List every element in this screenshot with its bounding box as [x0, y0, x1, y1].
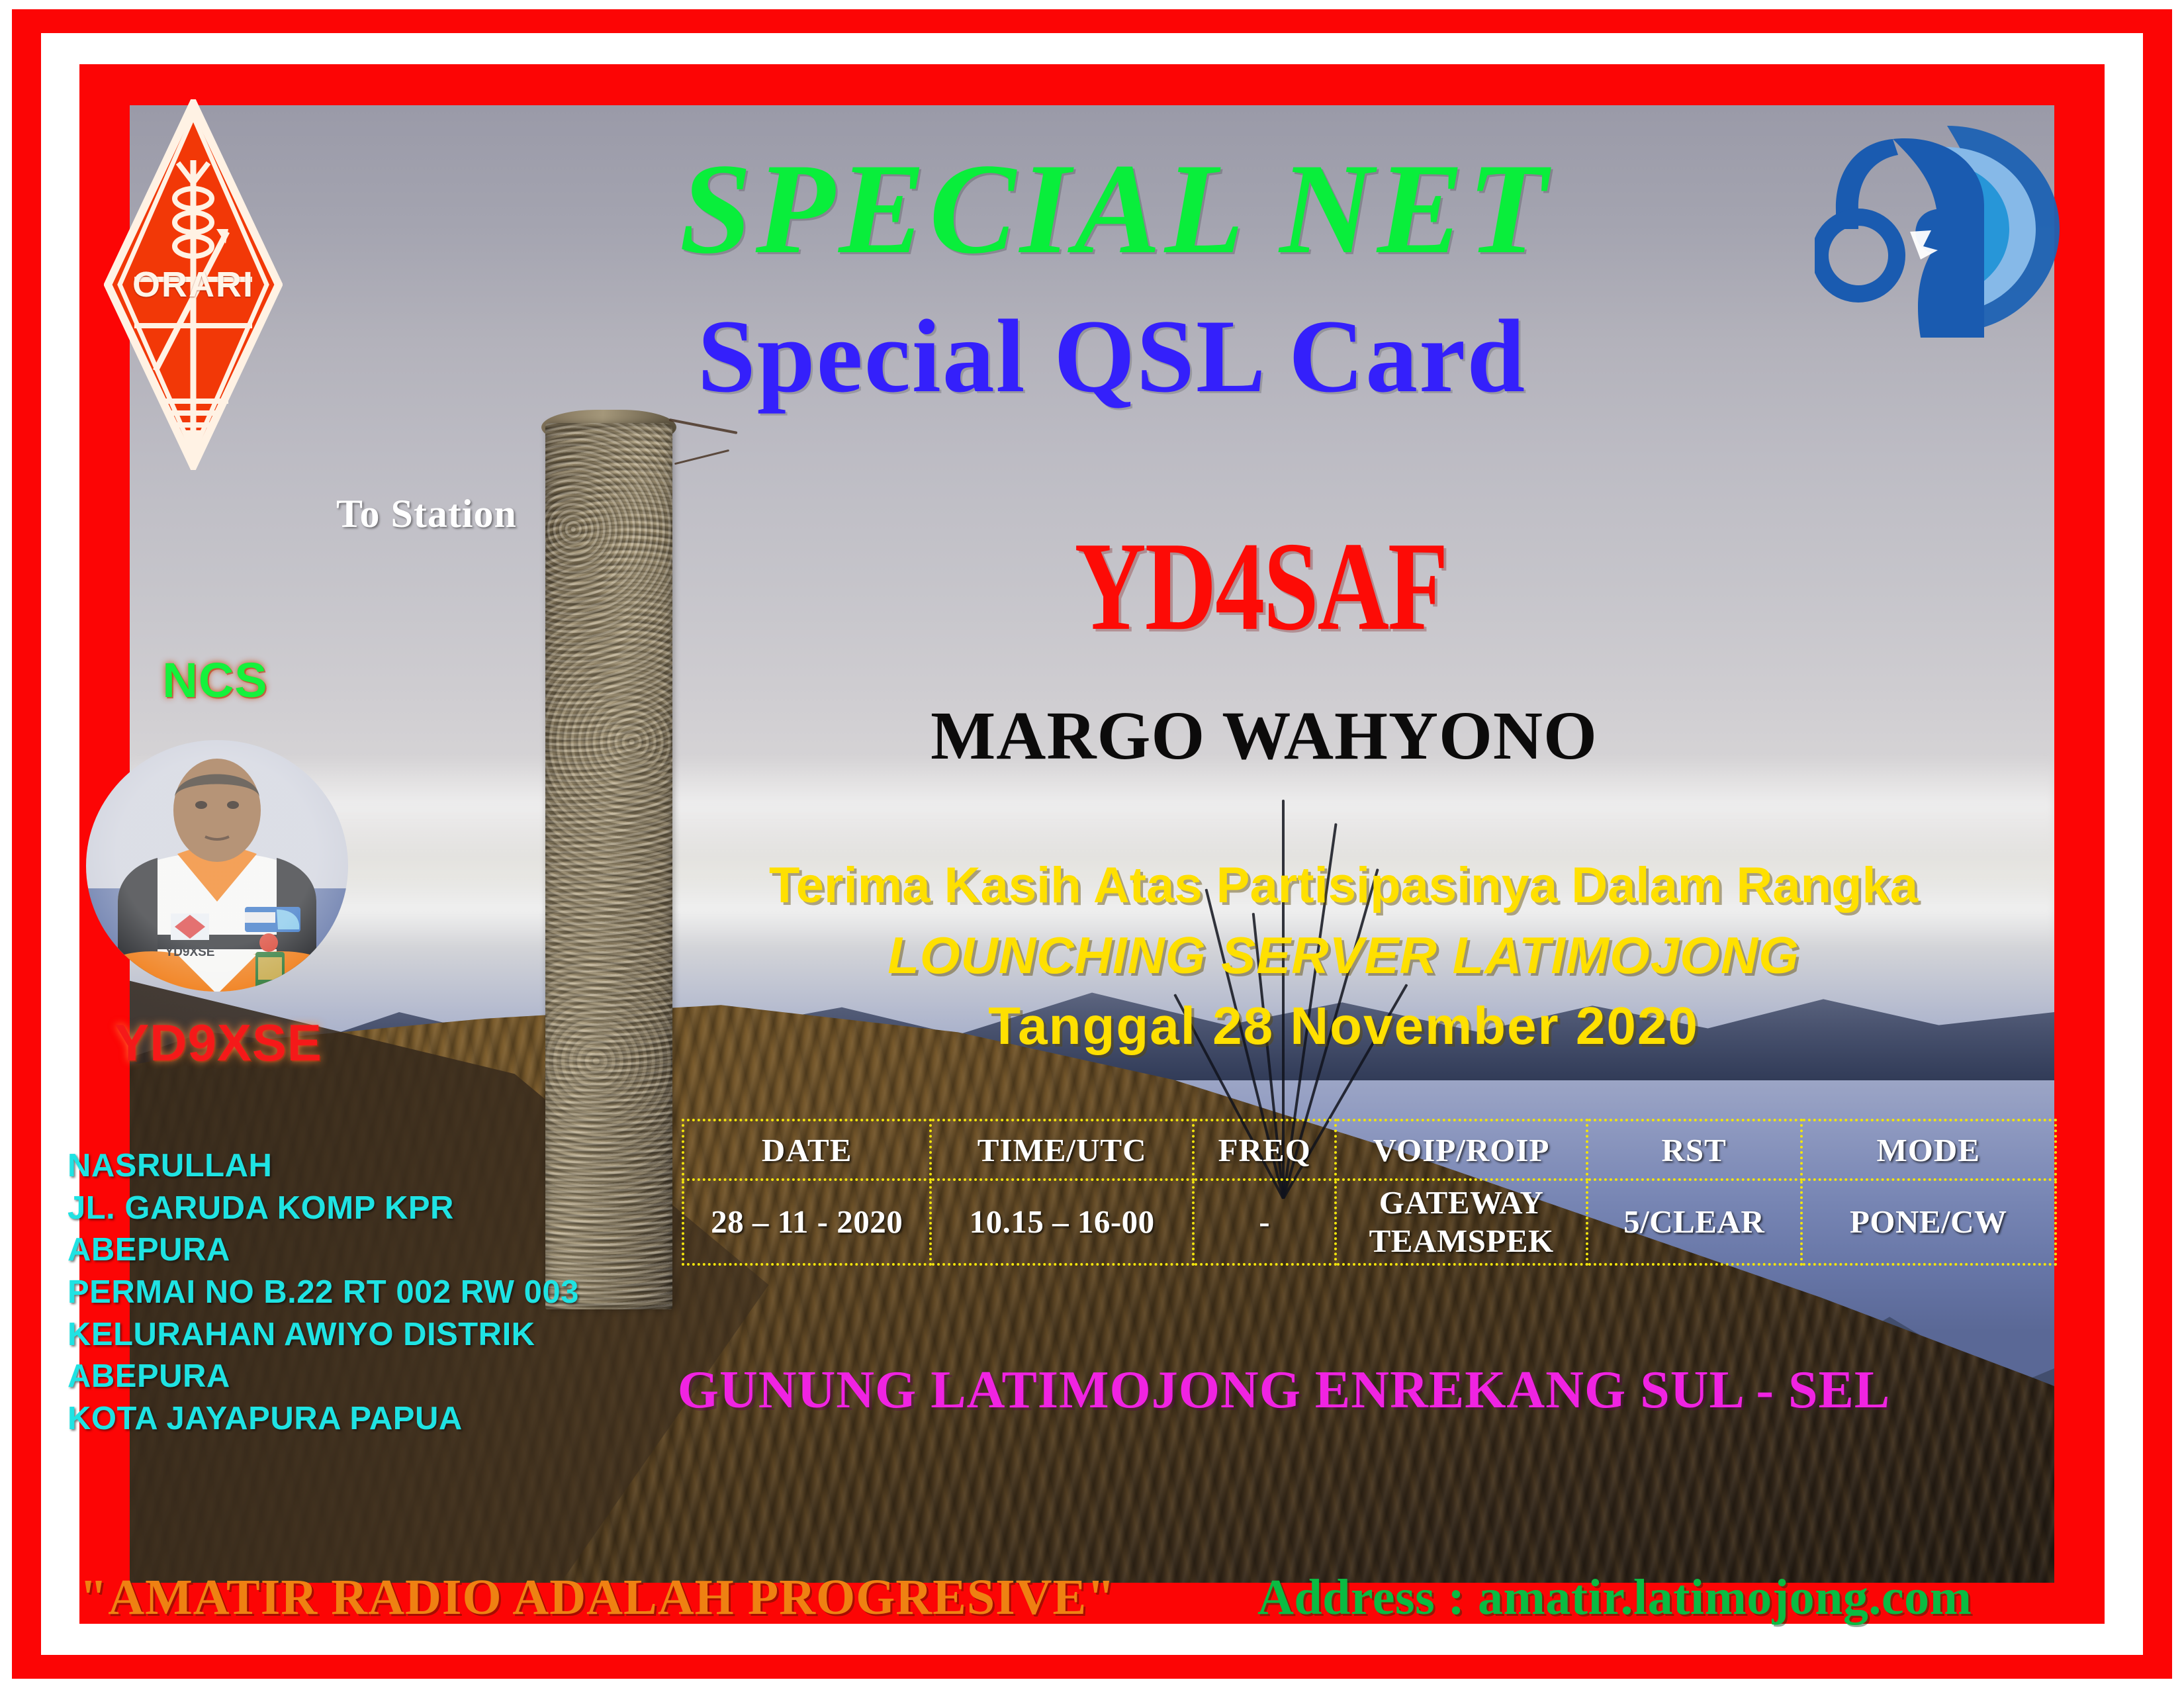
- footer-motto: "AMATIR RADIO ADALAH PROGRESIVE": [79, 1569, 1115, 1626]
- cell-rst: 5/CLEAR: [1587, 1180, 1801, 1264]
- address-line: JL. GARUDA KOMP KPR: [68, 1188, 650, 1230]
- address-line: PERMAI NO B.22 RT 002 RW 003: [68, 1272, 650, 1314]
- column-header-date: DATE: [683, 1120, 931, 1180]
- page-title-special-net: SPECIAL NET: [0, 144, 2184, 274]
- ncs-operator-photo: YD9XSE: [78, 736, 356, 994]
- footer-website-address: Address : amatir.latimojong.com: [1257, 1569, 1972, 1626]
- column-header-voip-roip: VOIP/ROIP: [1336, 1120, 1586, 1180]
- cell-time-utc: 10.15 – 16-00: [931, 1180, 1193, 1264]
- qsl-card: ORARI SPECIAL NET Special QSL Card To St…: [0, 0, 2184, 1688]
- page-subtitle-special-qsl-card: Special QSL Card: [0, 305, 2184, 409]
- thanks-line-2-event: LOUNCHING SERVER LATIMOJONG: [662, 929, 2025, 981]
- address-line: KELURAHAN AWIYO DISTRIK: [68, 1314, 650, 1356]
- address-line: ABEPURA: [68, 1356, 650, 1398]
- column-header-time-utc: TIME/UTC: [931, 1120, 1193, 1180]
- thanks-line-3-date: Tanggal 28 November 2020: [662, 1000, 2025, 1053]
- table-row: 28 – 11 - 2020 10.15 – 16-00 - GATEWAYTE…: [683, 1180, 2056, 1264]
- column-header-freq: FREQ: [1193, 1120, 1336, 1180]
- qso-log-table: DATE TIME/UTC FREQ VOIP/ROIP RST MODE 28…: [682, 1119, 2057, 1266]
- cell-mode: PONE/CW: [1801, 1180, 2056, 1264]
- address-line: KOTA JAYAPURA PAPUA: [68, 1398, 650, 1440]
- recipient-callsign: YD4SAF: [880, 523, 1641, 650]
- operator-portrait-image: YD9XSE: [78, 736, 356, 994]
- location-line: GUNUNG LATIMOJONG ENREKANG SUL - SEL: [635, 1360, 1933, 1421]
- ncs-label: NCS: [142, 652, 288, 708]
- sender-address-block: NASRULLAH JL. GARUDA KOMP KPR ABEPURA PE…: [68, 1145, 650, 1440]
- recipient-operator-name: MARGO WAHYONO: [827, 702, 1701, 771]
- ncs-callsign: YD9XSE: [66, 1013, 371, 1073]
- cell-date: 28 – 11 - 2020: [683, 1180, 931, 1264]
- cell-freq: -: [1193, 1180, 1336, 1264]
- to-station-label: To Station: [336, 491, 517, 537]
- thanks-line-1: Terima Kasih Atas Partisipasinya Dalam R…: [662, 861, 2025, 911]
- address-line: ABEPURA: [68, 1229, 650, 1272]
- cell-voip-roip: GATEWAYTEAMSPEK: [1336, 1180, 1586, 1264]
- card-content-layer: ORARI SPECIAL NET Special QSL Card To St…: [0, 0, 2184, 1688]
- column-header-mode: MODE: [1801, 1120, 2056, 1180]
- table-header-row: DATE TIME/UTC FREQ VOIP/ROIP RST MODE: [683, 1120, 2056, 1180]
- address-line: NASRULLAH: [68, 1145, 650, 1188]
- column-header-rst: RST: [1587, 1120, 1801, 1180]
